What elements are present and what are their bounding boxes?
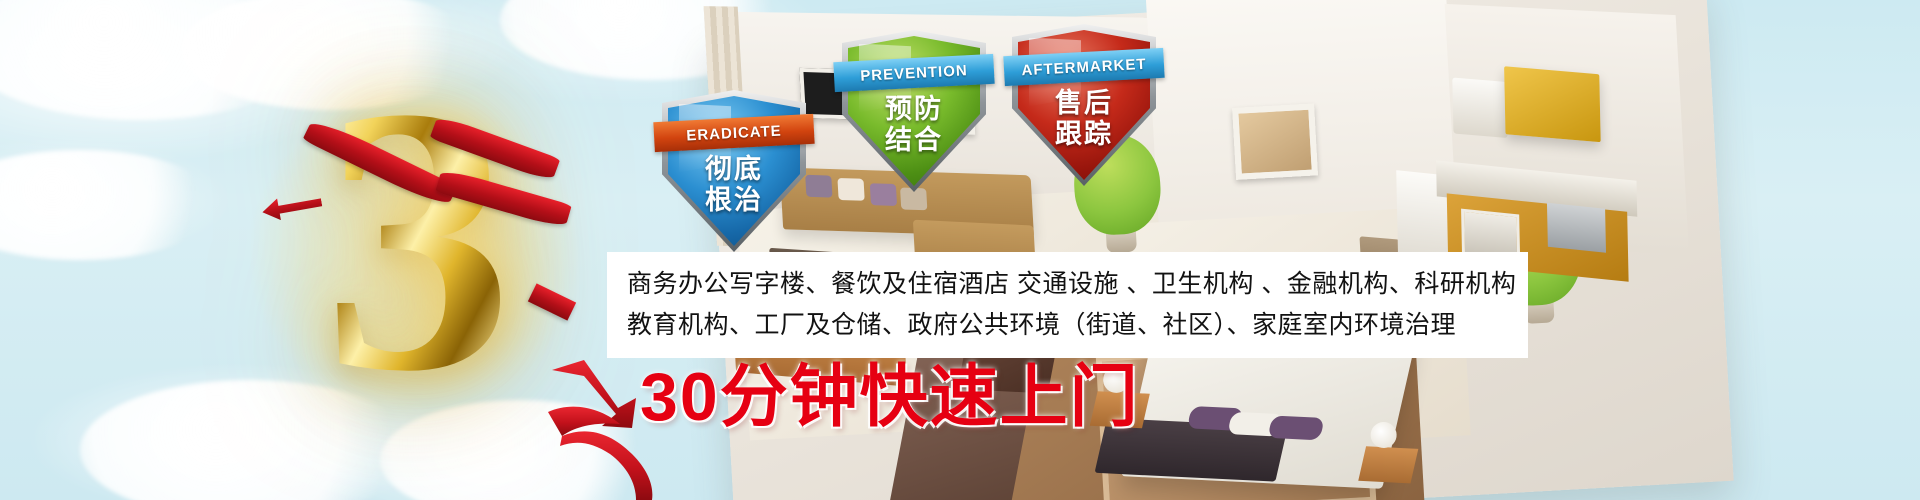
badge-cn-line1: 售后 xyxy=(1018,88,1150,119)
badge-cn-line1: 彻底 xyxy=(668,154,800,185)
badge-prevention: PREVENTION 预防 结合 xyxy=(848,36,980,186)
slogan-text: 30分钟快速上门 xyxy=(640,358,1140,436)
service-scope-line-2: 教育机构、工厂及仓储、政府公共环境（街道、社区）、家庭室内环境治理 xyxy=(627,305,1528,346)
nightstand xyxy=(1358,446,1418,483)
badge-cn-line2: 结合 xyxy=(848,125,980,156)
promo-banner: 3 ERADICATE 彻底 根治 P xyxy=(0,0,1920,500)
range-hood xyxy=(1452,77,1507,138)
badge-cn-line2: 根治 xyxy=(668,185,800,216)
badge-banner-label: AFTERMARKET xyxy=(1021,55,1147,79)
upper-cabinet xyxy=(1504,66,1601,142)
service-scope-card: 商务办公写字楼、餐饮及住宿酒店 交通设施 、卫生机构 、金融机构、科研机构 教育… xyxy=(607,252,1528,358)
wall-painting xyxy=(1232,103,1318,179)
badge-banner-label: PREVENTION xyxy=(860,62,968,85)
badge-chinese-text: 预防 结合 xyxy=(848,94,980,156)
badge-cn-line1: 预防 xyxy=(848,94,980,125)
kitchen-sink xyxy=(1547,203,1606,253)
badge-banner-label: ERADICATE xyxy=(686,122,782,144)
badge-eradicate: ERADICATE 彻底 根治 xyxy=(668,96,800,246)
badge-chinese-text: 彻底 根治 xyxy=(668,154,800,216)
cushion xyxy=(805,175,832,198)
cushion xyxy=(870,183,897,206)
service-scope-line-1: 商务办公写字楼、餐饮及住宿酒店 交通设施 、卫生机构 、金融机构、科研机构 xyxy=(627,264,1528,305)
badge-aftermarket: AFTERMARKET 售后 跟踪 xyxy=(1018,30,1150,180)
badge-cn-line2: 跟踪 xyxy=(1018,119,1150,150)
bed-pillow xyxy=(1267,415,1324,440)
badge-chinese-text: 售后 跟踪 xyxy=(1018,88,1150,150)
